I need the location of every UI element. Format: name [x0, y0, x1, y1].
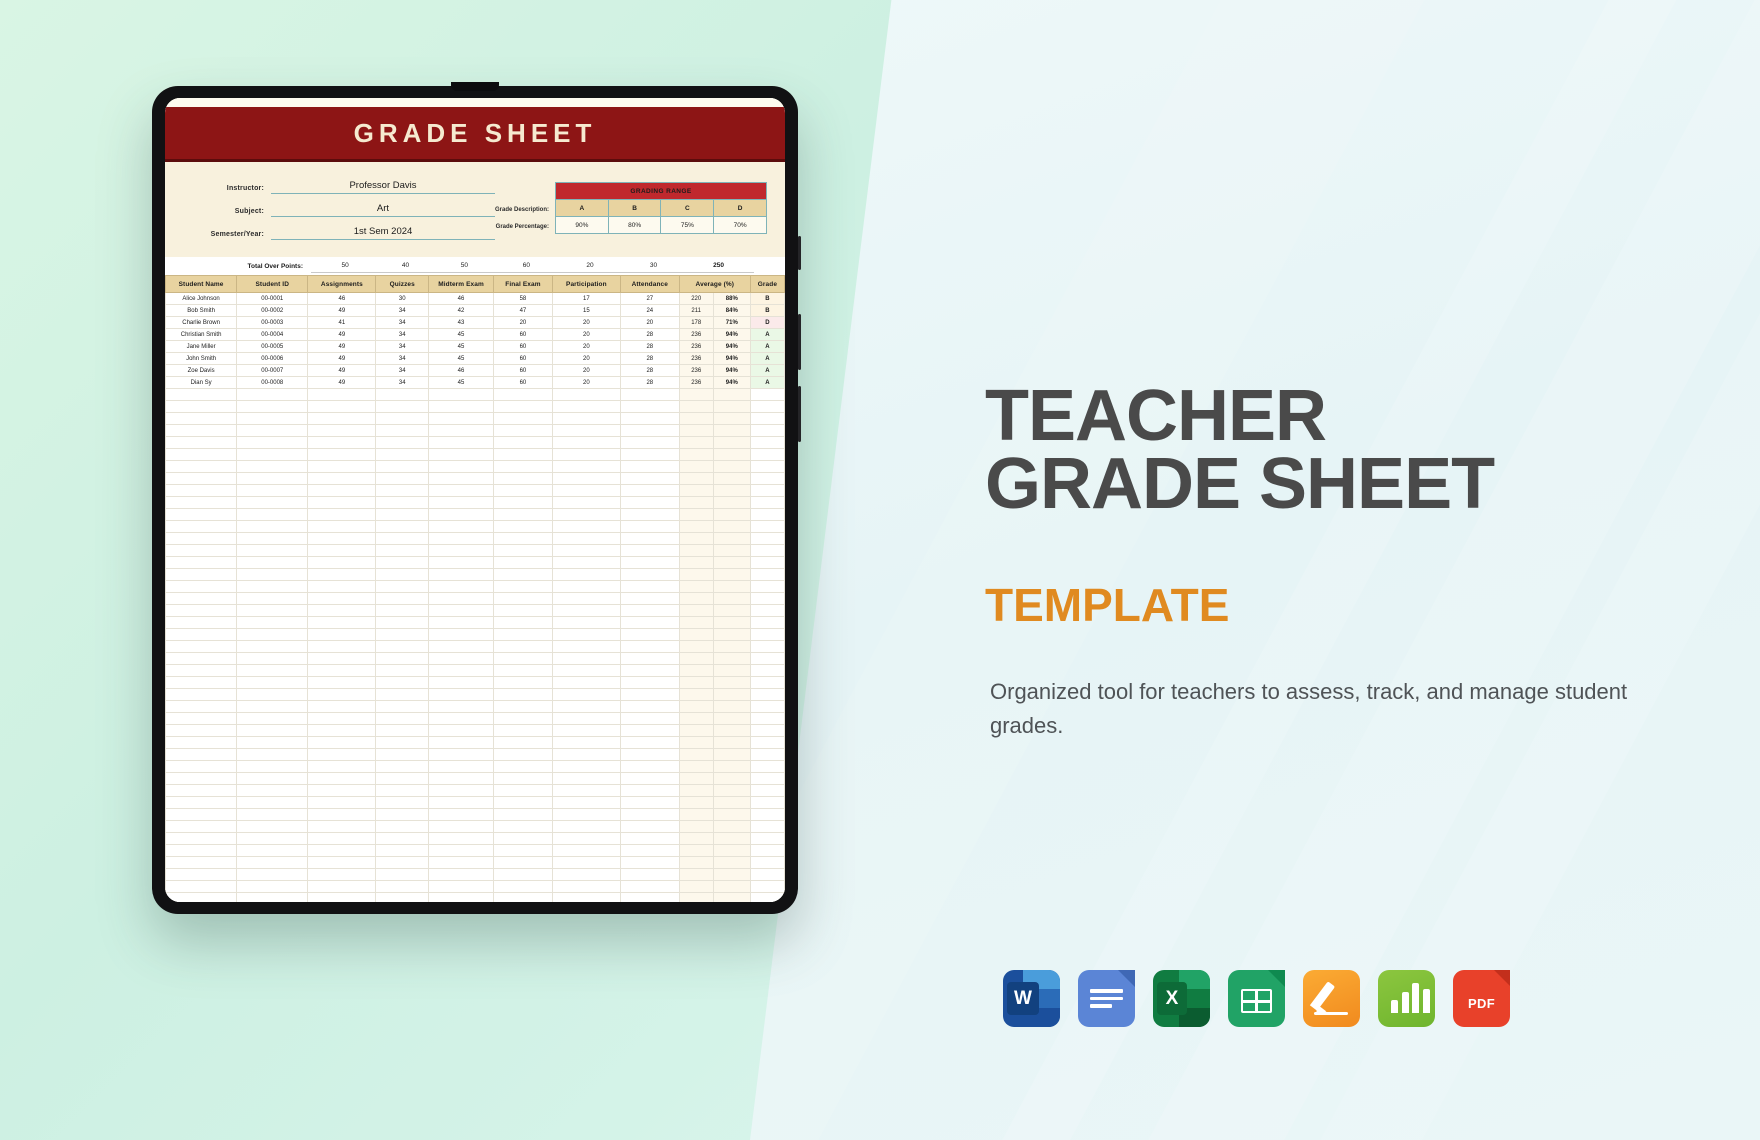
cell-empty[interactable]	[620, 893, 679, 903]
cell-empty[interactable]	[237, 893, 308, 903]
cell-empty[interactable]	[620, 485, 679, 497]
cell-final[interactable]: 60	[494, 377, 553, 389]
cell-empty[interactable]	[713, 605, 750, 617]
cell-empty[interactable]	[679, 437, 713, 449]
cell-empty[interactable]	[750, 605, 784, 617]
cell-grade[interactable]: A	[750, 377, 784, 389]
cell-empty[interactable]	[679, 413, 713, 425]
cell-quizzes[interactable]: 34	[376, 377, 429, 389]
cell-empty[interactable]	[376, 881, 429, 893]
cell-empty[interactable]	[679, 581, 713, 593]
cell-empty[interactable]	[679, 401, 713, 413]
cell-empty[interactable]	[376, 725, 429, 737]
cell-empty[interactable]	[166, 581, 237, 593]
cell-empty[interactable]	[494, 389, 553, 401]
cell-empty[interactable]	[620, 521, 679, 533]
cell-empty[interactable]	[679, 461, 713, 473]
cell-empty[interactable]	[308, 761, 376, 773]
table-row[interactable]: Christian Smith00-000449344560202823694%…	[166, 329, 785, 341]
cell-empty[interactable]	[494, 725, 553, 737]
cell-empty[interactable]	[750, 881, 784, 893]
table-row-empty[interactable]	[166, 869, 785, 881]
table-row-empty[interactable]	[166, 557, 785, 569]
cell-empty[interactable]	[308, 401, 376, 413]
table-row-empty[interactable]	[166, 785, 785, 797]
cell-empty[interactable]	[620, 797, 679, 809]
cell-empty[interactable]	[166, 485, 237, 497]
cell-empty[interactable]	[713, 389, 750, 401]
cell-empty[interactable]	[620, 593, 679, 605]
cell-empty[interactable]	[620, 557, 679, 569]
cell-empty[interactable]	[494, 857, 553, 869]
table-row[interactable]: Jane Miller00-000549344560202823694%A	[166, 341, 785, 353]
cell-empty[interactable]	[620, 737, 679, 749]
cell-empty[interactable]	[750, 869, 784, 881]
cell-empty[interactable]	[713, 473, 750, 485]
cell-empty[interactable]	[308, 461, 376, 473]
cell-empty[interactable]	[166, 569, 237, 581]
cell-midterm[interactable]: 45	[429, 353, 494, 365]
cell-empty[interactable]	[750, 725, 784, 737]
cell-empty[interactable]	[679, 809, 713, 821]
table-row-empty[interactable]	[166, 653, 785, 665]
cell-empty[interactable]	[750, 893, 784, 903]
cell-empty[interactable]	[308, 425, 376, 437]
cell-empty[interactable]	[494, 797, 553, 809]
cell-empty[interactable]	[166, 425, 237, 437]
cell-empty[interactable]	[620, 821, 679, 833]
cell-empty[interactable]	[237, 401, 308, 413]
cell-empty[interactable]	[494, 713, 553, 725]
subject-field[interactable]: Art	[271, 203, 495, 217]
cell-empty[interactable]	[308, 797, 376, 809]
cell-participation[interactable]: 20	[552, 365, 620, 377]
cell-empty[interactable]	[237, 881, 308, 893]
cell-empty[interactable]	[679, 545, 713, 557]
cell-empty[interactable]	[237, 821, 308, 833]
cell-empty[interactable]	[166, 725, 237, 737]
cell-empty[interactable]	[376, 605, 429, 617]
cell-empty[interactable]	[429, 521, 494, 533]
cell-empty[interactable]	[713, 761, 750, 773]
cell-empty[interactable]	[376, 425, 429, 437]
cell-empty[interactable]	[376, 893, 429, 903]
cell-empty[interactable]	[429, 425, 494, 437]
apple-pages-icon[interactable]	[1303, 970, 1360, 1027]
cell-empty[interactable]	[429, 809, 494, 821]
cell-empty[interactable]	[376, 569, 429, 581]
cell-grade[interactable]: B	[750, 293, 784, 305]
table-row-empty[interactable]	[166, 833, 785, 845]
cell-empty[interactable]	[376, 545, 429, 557]
cell-empty[interactable]	[376, 581, 429, 593]
cell-empty[interactable]	[429, 725, 494, 737]
cell-empty[interactable]	[166, 545, 237, 557]
cell-empty[interactable]	[376, 629, 429, 641]
cell-empty[interactable]	[376, 617, 429, 629]
cell-empty[interactable]	[713, 833, 750, 845]
cell-empty[interactable]	[679, 473, 713, 485]
cell-empty[interactable]	[166, 689, 237, 701]
cell-empty[interactable]	[750, 581, 784, 593]
cell-empty[interactable]	[429, 473, 494, 485]
cell-empty[interactable]	[679, 425, 713, 437]
cell-assignments[interactable]: 49	[308, 365, 376, 377]
cell-empty[interactable]	[620, 677, 679, 689]
cell-empty[interactable]	[713, 401, 750, 413]
cell-empty[interactable]	[429, 845, 494, 857]
cell-average[interactable]: 71%	[713, 317, 750, 329]
cell-empty[interactable]	[376, 761, 429, 773]
table-row-empty[interactable]	[166, 473, 785, 485]
cell-empty[interactable]	[552, 425, 620, 437]
cell-empty[interactable]	[494, 605, 553, 617]
cell-empty[interactable]	[429, 821, 494, 833]
cell-empty[interactable]	[376, 413, 429, 425]
cell-empty[interactable]	[620, 461, 679, 473]
cell-name[interactable]: Charlie Brown	[166, 317, 237, 329]
cell-empty[interactable]	[552, 449, 620, 461]
cell-empty[interactable]	[308, 569, 376, 581]
cell-empty[interactable]	[166, 593, 237, 605]
cell-empty[interactable]	[713, 737, 750, 749]
cell-empty[interactable]	[429, 437, 494, 449]
cell-empty[interactable]	[494, 641, 553, 653]
cell-empty[interactable]	[679, 881, 713, 893]
cell-empty[interactable]	[308, 845, 376, 857]
cell-grade[interactable]: A	[750, 329, 784, 341]
cell-empty[interactable]	[552, 809, 620, 821]
cell-final[interactable]: 60	[494, 341, 553, 353]
cell-grade[interactable]: A	[750, 365, 784, 377]
cell-empty[interactable]	[679, 449, 713, 461]
cell-empty[interactable]	[237, 797, 308, 809]
cell-empty[interactable]	[494, 425, 553, 437]
cell-assignments[interactable]: 46	[308, 293, 376, 305]
cell-empty[interactable]	[620, 881, 679, 893]
cell-name[interactable]: Christian Smith	[166, 329, 237, 341]
cell-empty[interactable]	[494, 509, 553, 521]
table-row[interactable]: John Smith00-000649344560202823694%A	[166, 353, 785, 365]
cell-empty[interactable]	[620, 449, 679, 461]
cell-empty[interactable]	[494, 581, 553, 593]
cell-id[interactable]: 00-0004	[237, 329, 308, 341]
cell-quizzes[interactable]: 34	[376, 341, 429, 353]
cell-empty[interactable]	[429, 389, 494, 401]
cell-empty[interactable]	[376, 749, 429, 761]
cell-average[interactable]: 84%	[713, 305, 750, 317]
cell-empty[interactable]	[494, 773, 553, 785]
cell-empty[interactable]	[750, 401, 784, 413]
table-row-empty[interactable]	[166, 413, 785, 425]
cell-empty[interactable]	[713, 449, 750, 461]
cell-empty[interactable]	[429, 401, 494, 413]
cell-empty[interactable]	[494, 761, 553, 773]
cell-empty[interactable]	[750, 773, 784, 785]
cell-empty[interactable]	[429, 593, 494, 605]
cell-empty[interactable]	[494, 473, 553, 485]
cell-empty[interactable]	[679, 713, 713, 725]
cell-empty[interactable]	[713, 749, 750, 761]
cell-empty[interactable]	[308, 413, 376, 425]
cell-empty[interactable]	[552, 785, 620, 797]
cell-empty[interactable]	[429, 605, 494, 617]
cell-empty[interactable]	[376, 653, 429, 665]
cell-empty[interactable]	[166, 557, 237, 569]
cell-empty[interactable]	[713, 557, 750, 569]
cell-total[interactable]: 220	[679, 293, 713, 305]
cell-empty[interactable]	[376, 821, 429, 833]
cell-empty[interactable]	[552, 893, 620, 903]
cell-attendance[interactable]: 28	[620, 365, 679, 377]
cell-empty[interactable]	[237, 677, 308, 689]
cell-assignments[interactable]: 49	[308, 329, 376, 341]
table-row-empty[interactable]	[166, 401, 785, 413]
cell-empty[interactable]	[166, 521, 237, 533]
tablet-volume-up-button[interactable]	[798, 314, 801, 370]
table-row-empty[interactable]	[166, 485, 785, 497]
cell-empty[interactable]	[376, 449, 429, 461]
cell-empty[interactable]	[713, 653, 750, 665]
cell-name[interactable]: Jane Miller	[166, 341, 237, 353]
cell-empty[interactable]	[552, 617, 620, 629]
cell-empty[interactable]	[679, 785, 713, 797]
cell-empty[interactable]	[166, 833, 237, 845]
cell-empty[interactable]	[552, 605, 620, 617]
cell-quizzes[interactable]: 34	[376, 365, 429, 377]
cell-empty[interactable]	[429, 533, 494, 545]
cell-empty[interactable]	[237, 689, 308, 701]
cell-empty[interactable]	[308, 509, 376, 521]
google-docs-icon[interactable]	[1078, 970, 1135, 1027]
cell-empty[interactable]	[552, 821, 620, 833]
cell-empty[interactable]	[679, 689, 713, 701]
cell-empty[interactable]	[376, 557, 429, 569]
cell-empty[interactable]	[237, 521, 308, 533]
cell-empty[interactable]	[494, 629, 553, 641]
cell-empty[interactable]	[166, 461, 237, 473]
cell-empty[interactable]	[376, 509, 429, 521]
table-row-empty[interactable]	[166, 545, 785, 557]
cell-empty[interactable]	[237, 809, 308, 821]
cell-total[interactable]: 236	[679, 377, 713, 389]
cell-empty[interactable]	[237, 509, 308, 521]
cell-name[interactable]: Bob Smith	[166, 305, 237, 317]
cell-empty[interactable]	[308, 785, 376, 797]
cell-empty[interactable]	[713, 809, 750, 821]
cell-empty[interactable]	[679, 389, 713, 401]
cell-empty[interactable]	[308, 701, 376, 713]
table-row-empty[interactable]	[166, 521, 785, 533]
cell-empty[interactable]	[750, 461, 784, 473]
cell-empty[interactable]	[679, 845, 713, 857]
cell-assignments[interactable]: 49	[308, 377, 376, 389]
cell-empty[interactable]	[552, 737, 620, 749]
cell-empty[interactable]	[166, 413, 237, 425]
table-row[interactable]: Dian Sy00-000849344560202823694%A	[166, 377, 785, 389]
cell-final[interactable]: 60	[494, 365, 553, 377]
cell-empty[interactable]	[620, 497, 679, 509]
cell-empty[interactable]	[679, 605, 713, 617]
cell-empty[interactable]	[620, 617, 679, 629]
cell-empty[interactable]	[552, 665, 620, 677]
cell-empty[interactable]	[494, 557, 553, 569]
cell-assignments[interactable]: 49	[308, 341, 376, 353]
cell-quizzes[interactable]: 34	[376, 329, 429, 341]
cell-empty[interactable]	[679, 665, 713, 677]
cell-empty[interactable]	[376, 389, 429, 401]
table-row-empty[interactable]	[166, 509, 785, 521]
table-row[interactable]: Alice Johnson00-000146304658172722088%B	[166, 293, 785, 305]
cell-empty[interactable]	[308, 809, 376, 821]
cell-empty[interactable]	[750, 821, 784, 833]
cell-grade[interactable]: B	[750, 305, 784, 317]
cell-empty[interactable]	[552, 833, 620, 845]
cell-empty[interactable]	[376, 785, 429, 797]
cell-empty[interactable]	[494, 449, 553, 461]
cell-empty[interactable]	[750, 629, 784, 641]
cell-empty[interactable]	[552, 569, 620, 581]
cell-empty[interactable]	[429, 761, 494, 773]
cell-empty[interactable]	[308, 773, 376, 785]
cell-empty[interactable]	[494, 413, 553, 425]
cell-empty[interactable]	[552, 413, 620, 425]
cell-empty[interactable]	[376, 521, 429, 533]
tablet-volume-down-button[interactable]	[798, 386, 801, 442]
table-row-empty[interactable]	[166, 689, 785, 701]
cell-empty[interactable]	[552, 521, 620, 533]
cell-empty[interactable]	[237, 605, 308, 617]
cell-empty[interactable]	[552, 389, 620, 401]
cell-empty[interactable]	[376, 641, 429, 653]
cell-empty[interactable]	[620, 641, 679, 653]
cell-average[interactable]: 94%	[713, 341, 750, 353]
cell-assignments[interactable]: 49	[308, 305, 376, 317]
cell-empty[interactable]	[166, 893, 237, 903]
cell-empty[interactable]	[620, 713, 679, 725]
cell-empty[interactable]	[429, 785, 494, 797]
cell-empty[interactable]	[750, 677, 784, 689]
cell-id[interactable]: 00-0003	[237, 317, 308, 329]
cell-empty[interactable]	[376, 665, 429, 677]
cell-empty[interactable]	[237, 425, 308, 437]
apple-numbers-icon[interactable]	[1378, 970, 1435, 1027]
cell-empty[interactable]	[166, 665, 237, 677]
cell-empty[interactable]	[429, 869, 494, 881]
cell-empty[interactable]	[679, 677, 713, 689]
cell-empty[interactable]	[376, 737, 429, 749]
cell-empty[interactable]	[376, 485, 429, 497]
cell-empty[interactable]	[166, 641, 237, 653]
table-row-empty[interactable]	[166, 677, 785, 689]
cell-empty[interactable]	[308, 437, 376, 449]
cell-empty[interactable]	[713, 545, 750, 557]
cell-empty[interactable]	[679, 761, 713, 773]
cell-empty[interactable]	[679, 773, 713, 785]
cell-empty[interactable]	[308, 881, 376, 893]
cell-empty[interactable]	[308, 473, 376, 485]
cell-empty[interactable]	[166, 629, 237, 641]
cell-empty[interactable]	[750, 641, 784, 653]
cell-empty[interactable]	[308, 389, 376, 401]
table-row-empty[interactable]	[166, 845, 785, 857]
cell-empty[interactable]	[308, 545, 376, 557]
cell-empty[interactable]	[376, 713, 429, 725]
cell-empty[interactable]	[552, 845, 620, 857]
cell-empty[interactable]	[308, 497, 376, 509]
cell-empty[interactable]	[308, 485, 376, 497]
cell-empty[interactable]	[679, 485, 713, 497]
cell-empty[interactable]	[679, 893, 713, 903]
cell-empty[interactable]	[494, 653, 553, 665]
cell-empty[interactable]	[620, 845, 679, 857]
table-row[interactable]: Zoe Davis00-000749344660202823694%A	[166, 365, 785, 377]
cell-empty[interactable]	[679, 737, 713, 749]
cell-empty[interactable]	[750, 785, 784, 797]
cell-empty[interactable]	[376, 593, 429, 605]
cell-empty[interactable]	[237, 713, 308, 725]
table-row-empty[interactable]	[166, 449, 785, 461]
cell-empty[interactable]	[376, 845, 429, 857]
cell-id[interactable]: 00-0001	[237, 293, 308, 305]
cell-empty[interactable]	[166, 533, 237, 545]
cell-empty[interactable]	[166, 713, 237, 725]
cell-empty[interactable]	[620, 725, 679, 737]
cell-empty[interactable]	[166, 401, 237, 413]
cell-empty[interactable]	[620, 473, 679, 485]
cell-participation[interactable]: 17	[552, 293, 620, 305]
cell-empty[interactable]	[237, 845, 308, 857]
cell-empty[interactable]	[237, 653, 308, 665]
cell-empty[interactable]	[237, 581, 308, 593]
cell-empty[interactable]	[750, 449, 784, 461]
cell-empty[interactable]	[308, 821, 376, 833]
cell-empty[interactable]	[713, 461, 750, 473]
table-row[interactable]: Charlie Brown00-000341344320202017871%D	[166, 317, 785, 329]
table-row-empty[interactable]	[166, 497, 785, 509]
cell-empty[interactable]	[237, 857, 308, 869]
cell-empty[interactable]	[552, 509, 620, 521]
cell-empty[interactable]	[376, 773, 429, 785]
table-row-empty[interactable]	[166, 437, 785, 449]
table-row-empty[interactable]	[166, 737, 785, 749]
cell-empty[interactable]	[237, 497, 308, 509]
cell-empty[interactable]	[237, 545, 308, 557]
cell-empty[interactable]	[237, 665, 308, 677]
cell-empty[interactable]	[494, 533, 553, 545]
cell-empty[interactable]	[166, 437, 237, 449]
cell-empty[interactable]	[429, 581, 494, 593]
cell-empty[interactable]	[237, 629, 308, 641]
cell-empty[interactable]	[237, 461, 308, 473]
cell-empty[interactable]	[308, 533, 376, 545]
cell-empty[interactable]	[750, 509, 784, 521]
cell-quizzes[interactable]: 30	[376, 293, 429, 305]
cell-empty[interactable]	[679, 857, 713, 869]
cell-empty[interactable]	[494, 617, 553, 629]
cell-empty[interactable]	[237, 569, 308, 581]
cell-empty[interactable]	[620, 425, 679, 437]
table-row-empty[interactable]	[166, 389, 785, 401]
cell-empty[interactable]	[237, 593, 308, 605]
cell-empty[interactable]	[237, 485, 308, 497]
cell-empty[interactable]	[713, 569, 750, 581]
cell-empty[interactable]	[679, 653, 713, 665]
cell-empty[interactable]	[552, 533, 620, 545]
cell-empty[interactable]	[552, 797, 620, 809]
cell-empty[interactable]	[166, 761, 237, 773]
cell-participation[interactable]: 20	[552, 377, 620, 389]
